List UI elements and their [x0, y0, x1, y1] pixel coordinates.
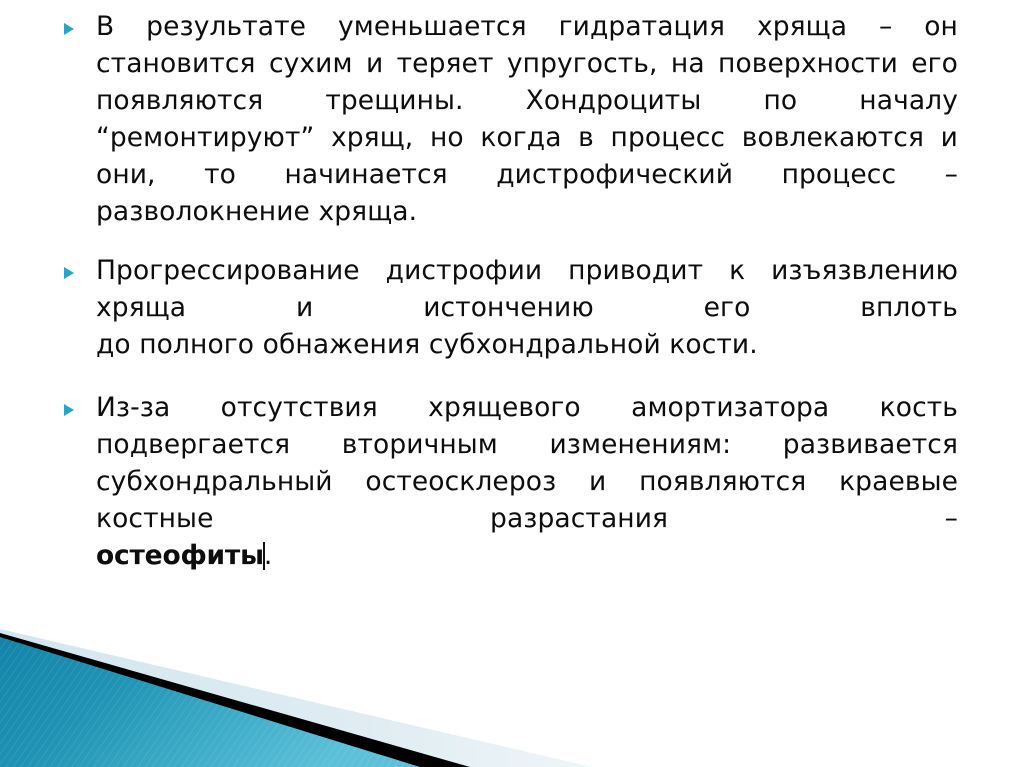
bullet-text-1: В результате уменьшается гидратация хрящ… [96, 8, 958, 230]
bullet-text-2: Прогрессирование дистрофии приводит к из… [96, 252, 958, 363]
bullet-text-1-tail: разволокнение хряща. [96, 193, 958, 230]
bullet-text-3-head: Из-за отсутствия хрящевого амортизатора … [96, 389, 958, 537]
bullet-item-1[interactable]: В результате уменьшается гидратация хрящ… [62, 8, 958, 230]
bullet-text-2-head: Прогрессирование дистрофии приводит к из… [96, 252, 958, 326]
decoration-teal-band [0, 637, 420, 767]
bullet-text-2-tail: до полного обнажения субхондральной кост… [96, 326, 958, 363]
triangle-right-bullet-icon [62, 8, 96, 37]
bullet-text-1-head: В результате уменьшается гидратация хрящ… [96, 8, 958, 193]
decoration-black-stripe [0, 633, 470, 767]
bullet-item-2[interactable]: Прогрессирование дистрофии приводит к из… [62, 252, 958, 363]
slide-content-body: В результате уменьшается гидратация хрящ… [62, 8, 958, 574]
decoration-teal-texture [0, 637, 420, 767]
slide-canvas: В результате уменьшается гидратация хрящ… [0, 0, 1024, 767]
bullet-item-3[interactable]: Из-за отсутствия хрящевого амортизатора … [62, 389, 958, 574]
bullet-text-3-tail: остеофиты. [96, 537, 958, 574]
bullet-text-3-emphasis-word: остеофиты [96, 540, 264, 571]
decoration-pale-band [0, 629, 592, 767]
bullet-text-3: Из-за отсутствия хрящевого амортизатора … [96, 389, 958, 574]
triangle-right-bullet-icon [62, 252, 96, 281]
bottom-decoration-graphic [0, 607, 1024, 767]
bullet-text-3-tail-suffix: . [264, 540, 273, 571]
triangle-right-bullet-icon [62, 389, 96, 418]
